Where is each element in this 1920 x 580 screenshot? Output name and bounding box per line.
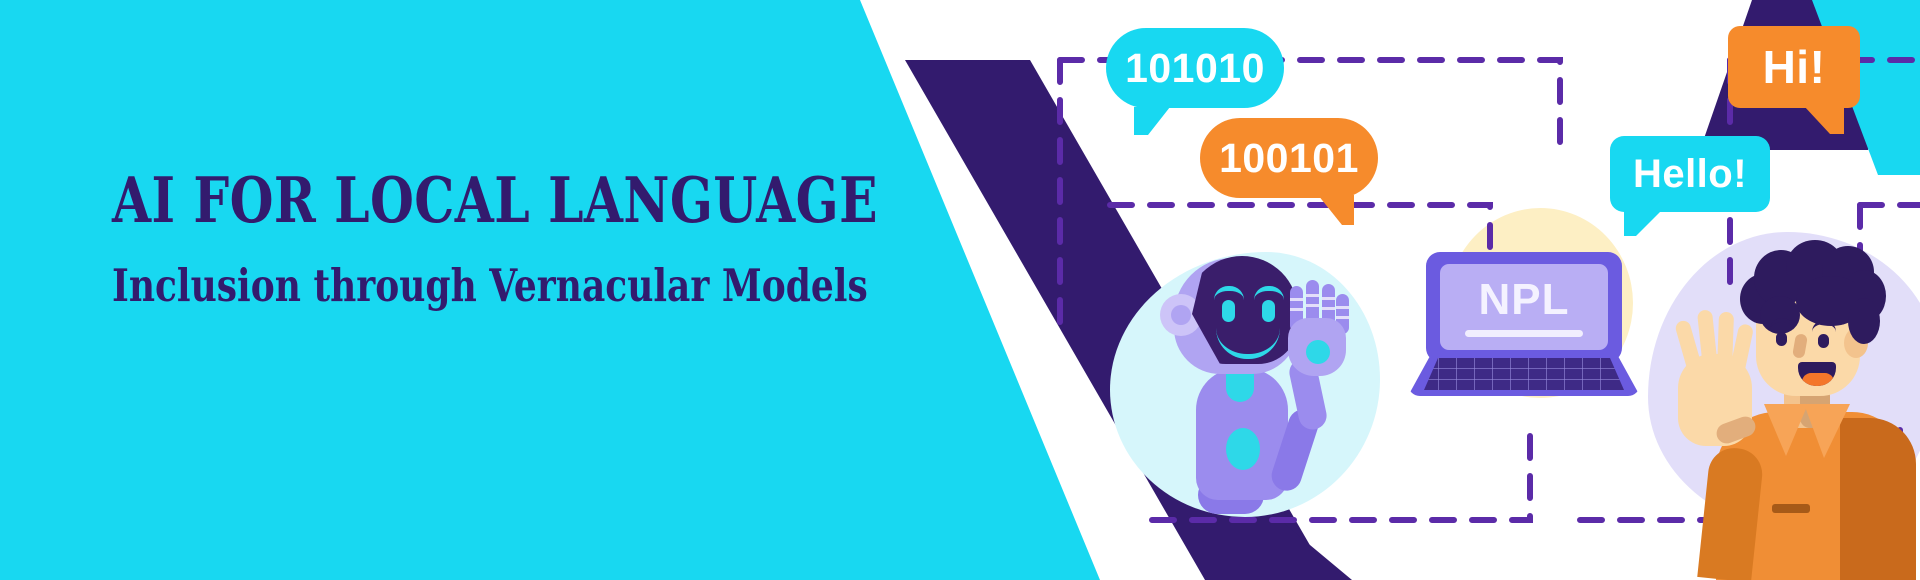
speech-bubble-binary-second: 100101 [1200, 118, 1378, 198]
banner: AI FOR LOCAL LANGUAGE Inclusion through … [0, 0, 1920, 580]
laptop-screen-text: NPL [1479, 278, 1570, 322]
speech-bubble-text: 101010 [1125, 45, 1265, 92]
person-shirt-pocket [1772, 504, 1810, 513]
speech-bubble-tail [1624, 210, 1662, 236]
person-hair [1736, 240, 1886, 344]
speech-bubble-tail [1318, 195, 1354, 225]
person-eye-left [1776, 332, 1787, 346]
robot-illustration [1138, 250, 1368, 500]
speech-bubble-hello: Hello! [1610, 136, 1770, 212]
headline-block: AI FOR LOCAL LANGUAGE Inclusion through … [112, 168, 832, 310]
speech-bubble-tail [1804, 106, 1844, 134]
page-title: AI FOR LOCAL LANGUAGE [112, 168, 688, 232]
speech-bubble-hi: Hi! [1728, 26, 1860, 108]
laptop-keyboard [1424, 358, 1624, 390]
laptop-screen: NPL [1440, 264, 1608, 350]
laptop-illustration: NPL [1408, 252, 1640, 372]
laptop-screen-underline [1465, 330, 1583, 337]
robot-eye-left [1222, 300, 1235, 322]
person-torso-shadow [1840, 418, 1916, 580]
robot-chest-light [1226, 428, 1260, 470]
speech-bubble-tail [1134, 107, 1170, 135]
person-eye-right [1818, 334, 1829, 348]
speech-bubble-text: Hello! [1633, 152, 1747, 197]
robot-eye-right [1262, 300, 1275, 322]
person-mouth [1798, 362, 1836, 386]
speech-bubble-text: Hi! [1763, 40, 1826, 94]
page-subtitle: Inclusion through Vernacular Models [112, 262, 688, 309]
speech-bubble-text: 100101 [1219, 135, 1359, 182]
person-illustration [1660, 236, 1920, 580]
robot-palm-light [1306, 340, 1330, 364]
speech-bubble-binary-top: 101010 [1106, 28, 1284, 108]
